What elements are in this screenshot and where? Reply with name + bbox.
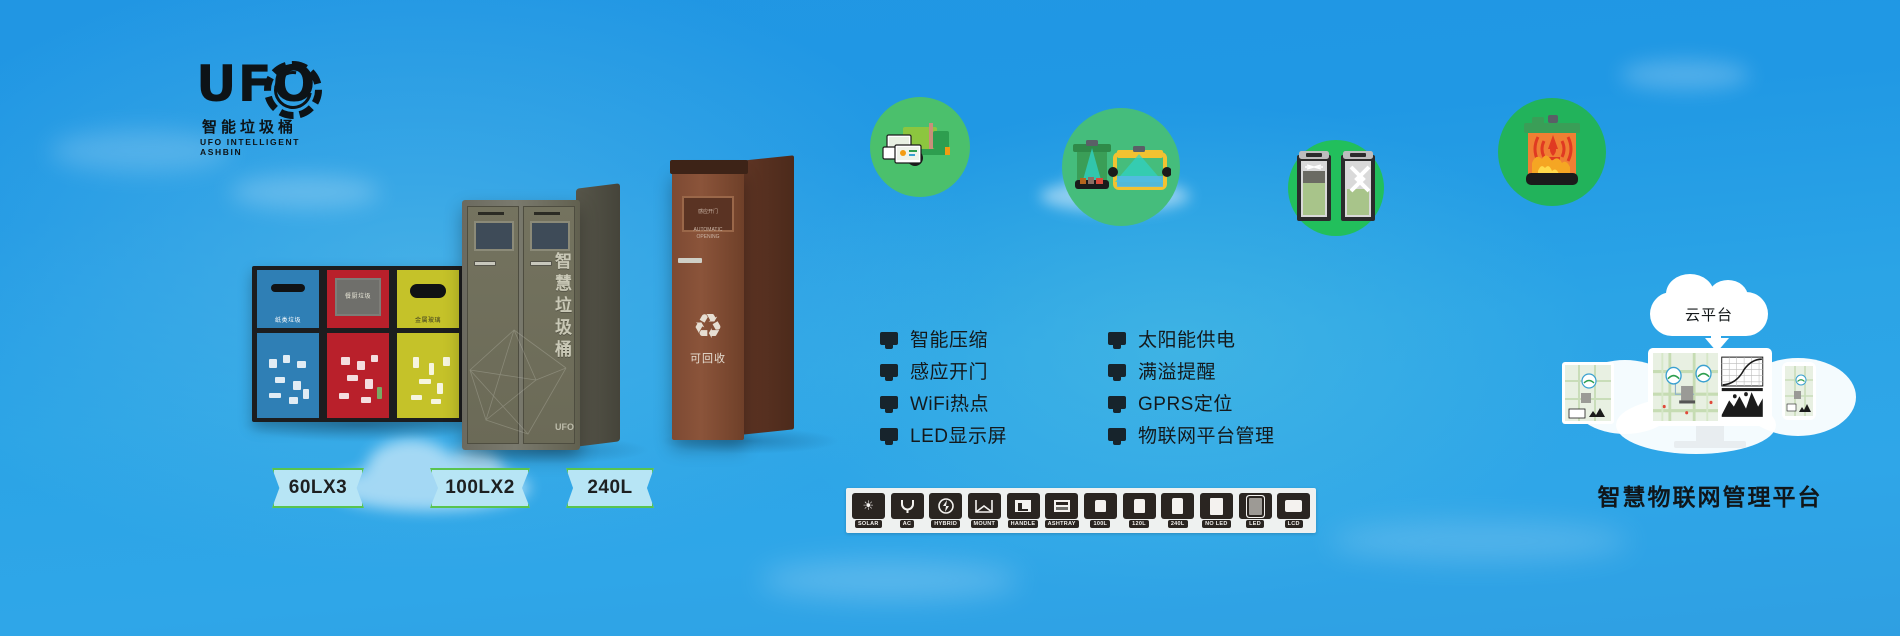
monitor-stand: [1696, 426, 1724, 442]
capacity-badge-triple: 60LX3: [272, 468, 364, 508]
compartment-lower: [327, 333, 389, 418]
fill-level-sensor-icon: [1062, 108, 1180, 226]
cloud-decoration: [1620, 60, 1750, 90]
capacity-badge-double: 100LX2: [430, 468, 530, 508]
feature-label: 太阳能供电: [1138, 325, 1236, 352]
vent-slot-icon: [478, 212, 504, 215]
bin-100l-icon: [1084, 493, 1117, 519]
feature-item: 物联网平台管理: [1108, 418, 1275, 450]
spec-item-ashtray: ASHTRAY: [1043, 493, 1080, 528]
bin-compartment-red: 餐厨垃圾: [327, 270, 389, 418]
compartment-lower: [397, 333, 459, 418]
logo-cn-name: 智能垃圾桶: [202, 116, 297, 137]
waste-graphic: [333, 349, 383, 410]
bin-compartment-yellow: 金属玻璃: [397, 270, 459, 418]
hybrid-bolt-icon: [929, 493, 962, 519]
circle-fire-alarm: [1498, 98, 1606, 206]
circle-compaction: [1288, 140, 1384, 236]
bin-glyph: [1172, 498, 1183, 514]
capacity-badge-brown: 240L: [566, 468, 654, 508]
monitor-bullet-icon: [1108, 332, 1126, 345]
recycle-label: 可回收: [672, 350, 744, 366]
spec-item-240l: 240L: [1159, 493, 1196, 528]
feature-column-right: 太阳能供电 满溢提醒 GPRS定位 物联网平台管理: [1108, 322, 1275, 450]
feature-item: LED显示屏: [880, 418, 1007, 450]
spec-icon-strip: ☀ SOLAR AC HYBRID MOUNT HANDLE: [846, 488, 1316, 533]
bin-top-lid: [670, 160, 748, 174]
bin-side-panel: [576, 183, 620, 446]
feature-item: 太阳能供电: [1108, 322, 1275, 354]
display-window: [474, 221, 514, 251]
fire-alarm-bin-icon: [1498, 98, 1606, 206]
feature-item: 感应开门: [880, 354, 1007, 386]
bin-glyph: [1095, 500, 1106, 512]
led-icon: [1239, 493, 1272, 519]
bin-side-panel: [742, 155, 794, 434]
compaction-bins-icon: [1288, 140, 1384, 236]
circle-fill-level: [1062, 108, 1180, 226]
cloud-decoration: [1330, 520, 1630, 562]
monitor-base: [1674, 441, 1746, 448]
product-brown-bin: 感应开门 AUTOMATIC OPENING ♻ 可回收: [672, 170, 744, 440]
bin-body: 感应开门 AUTOMATIC OPENING ♻ 可回收: [672, 170, 744, 440]
bin-240l-icon: [1161, 493, 1194, 519]
phone-device: [1782, 362, 1816, 420]
bin-brand-mark: UFO: [555, 422, 574, 432]
circle-fleet: [870, 97, 970, 197]
recycle-icon: ♻: [693, 310, 723, 344]
desktop-monitor: [1648, 348, 1772, 426]
phone-screen: [1785, 366, 1813, 416]
compartment-upper: 纸类垃圾: [257, 270, 319, 328]
ac-plug-icon: [891, 493, 924, 519]
bin-side-text: 智慧垃圾桶: [549, 252, 574, 362]
spec-item-handle: HANDLE: [1005, 493, 1042, 528]
waste-graphic: [403, 349, 453, 410]
monitor-bullet-icon: [1108, 364, 1126, 377]
feature-item: GPRS定位: [1108, 386, 1275, 418]
compartment-lower: [257, 333, 319, 418]
bin-compartment-blue: 纸类垃圾: [257, 270, 319, 418]
monitor-bullet-icon: [880, 396, 898, 409]
waste-slot-icon: [271, 284, 305, 292]
product-triple-bin: 纸类垃圾 餐厨垃圾: [252, 266, 464, 422]
panel-glyph: [1210, 498, 1223, 515]
monitor-screen: [1653, 353, 1767, 421]
spec-label: LED: [1246, 520, 1264, 528]
spec-label: 120L: [1129, 520, 1149, 528]
cloud-badge: 云平台: [1650, 292, 1768, 336]
display-panel: 餐厨垃圾: [335, 278, 381, 316]
waste-slot-icon: [410, 284, 446, 298]
feature-label: 满溢提醒: [1138, 357, 1216, 384]
spec-label: AC: [900, 520, 915, 528]
handle-icon: [1007, 493, 1040, 519]
feature-label: 感应开门: [910, 357, 988, 384]
spec-label: 100L: [1090, 520, 1110, 528]
spec-label: NO LED: [1202, 520, 1231, 528]
no-led-icon: [1200, 493, 1233, 519]
feature-label: 物联网平台管理: [1138, 421, 1275, 448]
feature-column-left: 智能压缩 感应开门 WiFi热点 LED显示屏: [880, 322, 1007, 450]
display-window: [530, 221, 570, 251]
waste-graphic: [263, 349, 313, 410]
door-handle-icon: [678, 258, 702, 263]
feature-label: GPRS定位: [1138, 389, 1233, 416]
spec-label: SOLAR: [855, 520, 882, 528]
spec-item-ac: AC: [889, 493, 926, 528]
chart-panel: [1718, 353, 1767, 421]
panel-glyph: [1249, 498, 1262, 515]
tablet-device: [1562, 362, 1614, 424]
cloud-decoration: [230, 175, 380, 209]
spec-item-100l: 100L: [1082, 493, 1119, 528]
product-double-smart-bin: 智慧垃圾桶 UFO: [462, 200, 580, 450]
compartment-upper: 餐厨垃圾: [327, 270, 389, 328]
compartment-label: 餐厨垃圾: [337, 291, 379, 300]
spec-item-solar: ☀ SOLAR: [850, 493, 887, 528]
spec-label: ASHTRAY: [1045, 520, 1079, 528]
map-panel: [1653, 353, 1718, 421]
cloud-decoration: [760, 560, 1020, 600]
spec-label: HANDLE: [1008, 520, 1039, 528]
vent-slot-icon: [534, 212, 560, 215]
wall-mount-icon: [968, 493, 1001, 519]
feature-label: LED显示屏: [910, 421, 1007, 448]
platform-caption: 智慧物联网管理平台: [1530, 478, 1890, 512]
panel-text-en: AUTOMATIC OPENING: [684, 227, 732, 241]
monitor-bullet-icon: [1108, 428, 1126, 441]
spec-item-hybrid: HYBRID: [927, 493, 964, 528]
bin-glyph: [1134, 499, 1145, 513]
compartment-label: 纸类垃圾: [257, 315, 319, 324]
feature-item: WiFi热点: [880, 386, 1007, 418]
monitor-bullet-icon: [880, 428, 898, 441]
bin-body: 智慧垃圾桶 UFO: [462, 200, 580, 450]
tablet-screen: [1565, 365, 1611, 421]
monitor-bullet-icon: [880, 364, 898, 377]
spec-label: LCD: [1285, 520, 1303, 528]
feature-item: 智能压缩: [880, 322, 1007, 354]
door-handle-icon: [474, 261, 496, 266]
spec-item-no-led: NO LED: [1198, 493, 1235, 528]
monitor-bullet-icon: [1108, 396, 1126, 409]
spec-label: 240L: [1168, 520, 1188, 528]
spec-item-120l: 120L: [1121, 493, 1158, 528]
lcd-icon: [1277, 493, 1310, 519]
spec-label: HYBRID: [931, 520, 960, 528]
spec-item-led: LED: [1237, 493, 1274, 528]
spec-item-mount: MOUNT: [966, 493, 1003, 528]
logo-en-name: UFO INTELLIGENT ASHBIN: [200, 137, 322, 157]
iot-platform-illustration: 云平台: [1560, 300, 1860, 500]
feature-label: WiFi热点: [910, 389, 989, 416]
product-banner: UFO 智能垃圾桶 UFO INTELLIGENT ASHBIN 纸类垃圾: [0, 0, 1900, 636]
solar-sun-icon: ☀: [852, 493, 885, 519]
compartment-label: 金属玻璃: [397, 315, 459, 324]
garbage-truck-monitoring-icon: [870, 97, 970, 197]
spec-item-lcd: LCD: [1275, 493, 1312, 528]
cloud-label: 云平台: [1650, 304, 1768, 325]
panel-glyph: [1285, 500, 1302, 512]
feature-label: 智能压缩: [910, 325, 988, 352]
monitor-bullet-icon: [880, 332, 898, 345]
bin-120l-icon: [1123, 493, 1156, 519]
display-panel: 感应开门 AUTOMATIC OPENING: [682, 196, 734, 232]
brand-logo: UFO 智能垃圾桶 UFO INTELLIGENT ASHBIN: [196, 58, 322, 154]
ashtray-icon: [1045, 493, 1078, 519]
compartment-upper: 金属玻璃: [397, 270, 459, 328]
panel-text-cn: 感应开门: [684, 209, 732, 216]
spec-label: MOUNT: [971, 520, 999, 528]
feature-item: 满溢提醒: [1108, 354, 1275, 386]
